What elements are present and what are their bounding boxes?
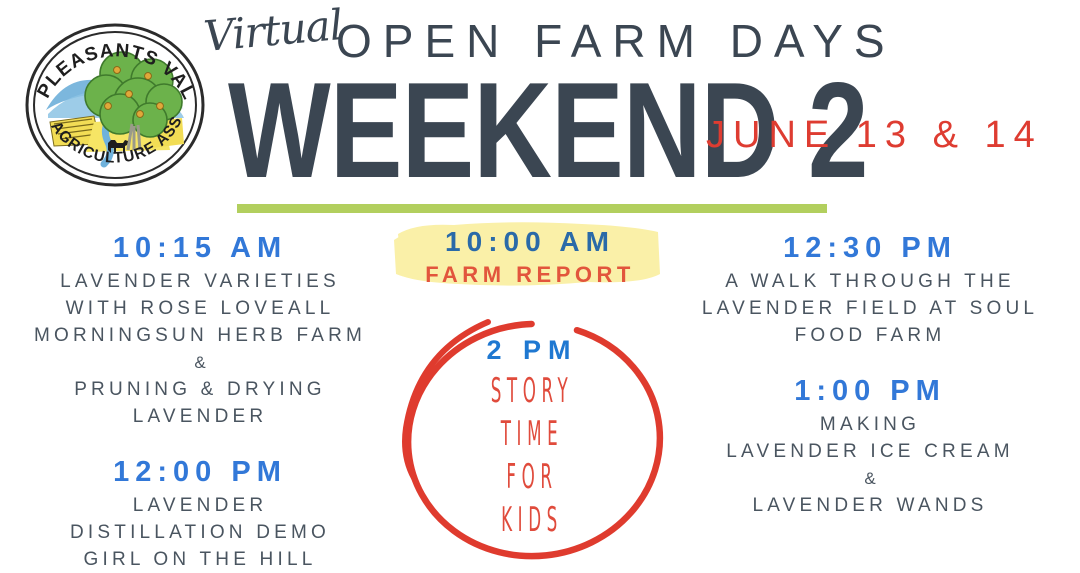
session-line: LAVENDER VARIETIES	[4, 268, 396, 295]
schedule-block: 12:30 PM A WALK THROUGH THE LAVENDER FIE…	[664, 228, 1076, 349]
session-line: LAVENDER	[4, 403, 396, 430]
farm-report-highlight: 10:00 AM FARM REPORT	[400, 218, 660, 302]
session-line: TIME	[445, 410, 619, 458]
circle-text-group: 2 PM STORY TIME FOR KIDS	[392, 330, 672, 542]
session-line: DISTILLATION DEMO	[4, 519, 396, 546]
schedule-block: 1:00 PM MAKING LAVENDER ICE CREAM & LAVE…	[664, 371, 1076, 519]
session-time: 12:30 PM	[664, 228, 1076, 268]
session-line: WITH ROSE LOVEALL	[4, 295, 396, 322]
spacer	[4, 430, 396, 452]
session-line: PRUNING & DRYING	[4, 376, 396, 403]
schedule-block: 12:00 PM LAVENDER DISTILLATION DEMO GIRL…	[4, 452, 396, 573]
session-line: LAVENDER WANDS	[664, 492, 1076, 519]
schedule-column-right: 12:30 PM A WALK THROUGH THE LAVENDER FIE…	[664, 228, 1076, 519]
session-line: MORNINGSUN HERB FARM	[4, 322, 396, 349]
spacer	[664, 349, 1076, 371]
story-time-circle: 2 PM STORY TIME FOR KIDS	[392, 316, 672, 564]
open-farm-days-poster: PLEASANTS VALLEY AGRICULTURE ASSOCIATION…	[0, 0, 1080, 566]
event-dates: JUNE 13 & 14	[706, 114, 1043, 157]
virtual-script-label: Virtual	[202, 0, 344, 61]
session-line: FOOD FARM	[664, 322, 1076, 349]
session-line: FOR	[445, 453, 619, 501]
schedule-column-center: 10:00 AM FARM REPORT	[390, 218, 670, 302]
session-line: KIDS	[445, 496, 619, 544]
session-line: &	[664, 465, 1076, 492]
session-line: MAKING	[664, 411, 1076, 438]
organization-logo: PLEASANTS VALLEY AGRICULTURE ASSOCIATION	[24, 18, 206, 192]
session-line: A WALK THROUGH THE	[664, 268, 1076, 295]
session-line: &	[4, 349, 396, 376]
logo-badge-icon: PLEASANTS VALLEY AGRICULTURE ASSOCIATION	[24, 18, 206, 192]
session-line: LAVENDER	[4, 492, 396, 519]
session-label: FARM REPORT	[400, 260, 660, 290]
session-line: GIRL ON THE HILL	[4, 546, 396, 573]
session-line: STORY	[445, 367, 619, 415]
session-time: 10:15 AM	[4, 228, 396, 268]
session-time: 12:00 PM	[4, 452, 396, 492]
highlight-text-group: 10:00 AM FARM REPORT	[400, 224, 660, 290]
session-line: LAVENDER FIELD AT SOUL	[664, 295, 1076, 322]
schedule-block: 10:15 AM LAVENDER VARIETIES WITH ROSE LO…	[4, 228, 396, 430]
session-line: LAVENDER ICE CREAM	[664, 438, 1076, 465]
schedule-column-left: 10:15 AM LAVENDER VARIETIES WITH ROSE LO…	[4, 228, 396, 573]
session-time: 2 PM	[392, 330, 672, 370]
green-divider	[237, 204, 827, 213]
session-time: 10:00 AM	[400, 224, 660, 260]
session-time: 1:00 PM	[664, 371, 1076, 411]
